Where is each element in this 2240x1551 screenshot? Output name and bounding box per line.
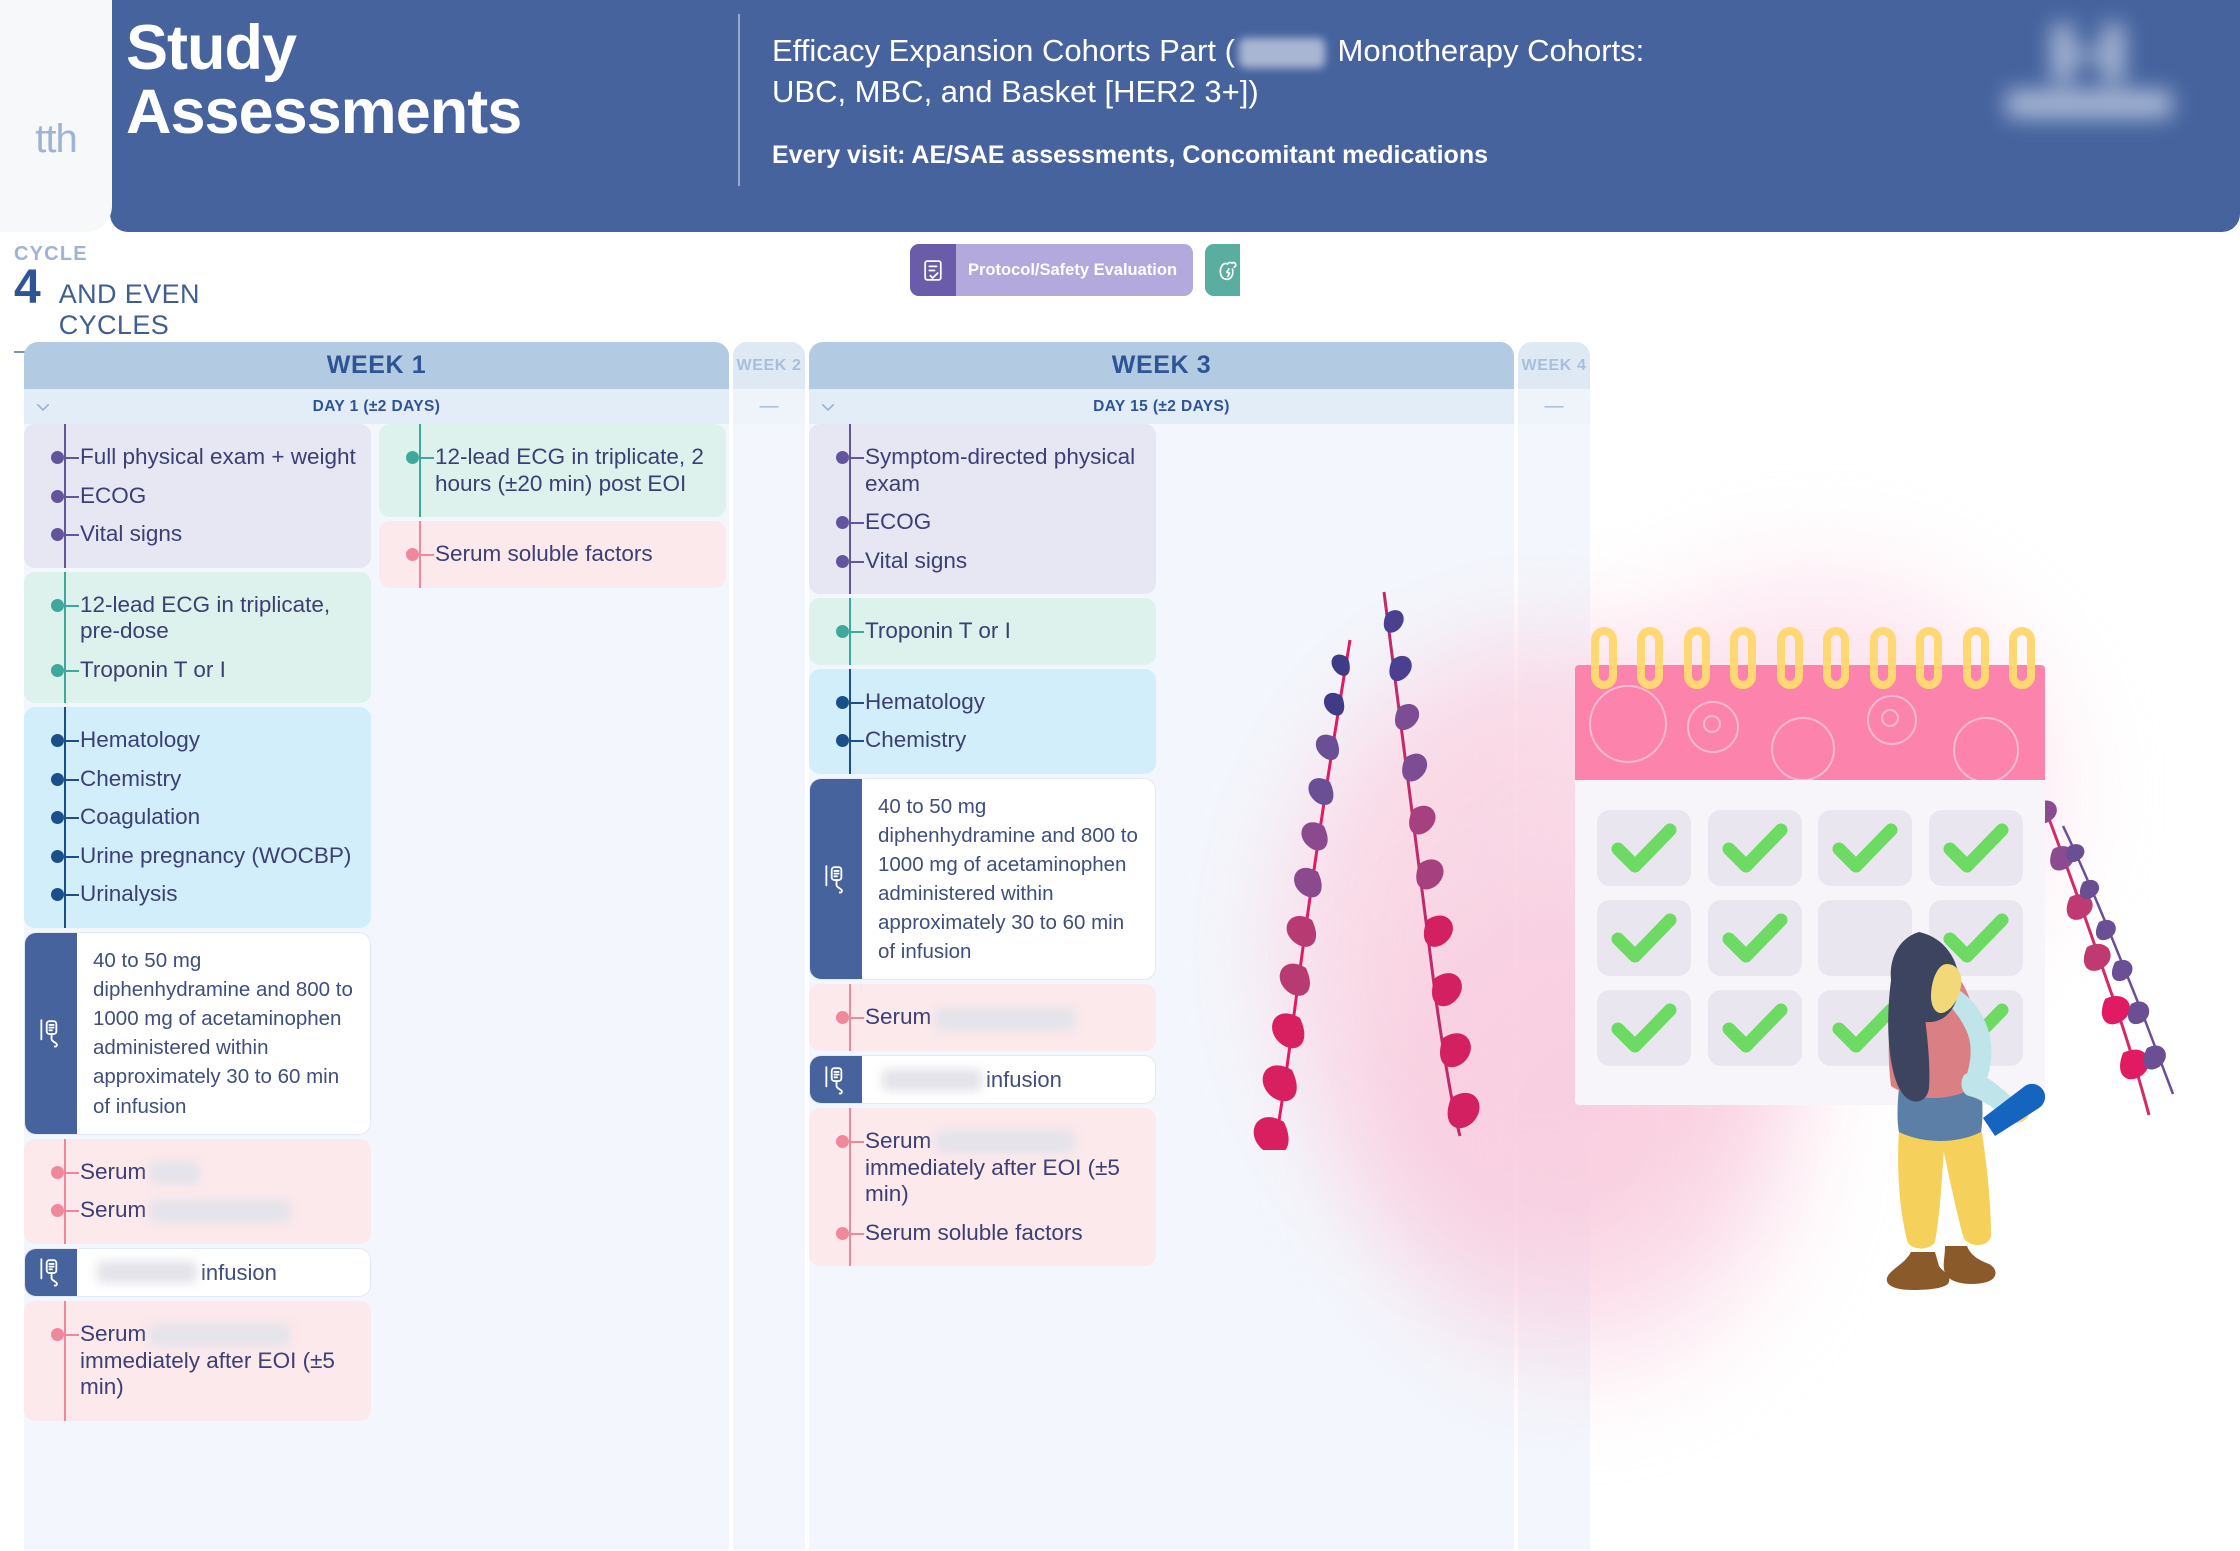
assessment-label: Troponin T or I	[80, 657, 226, 682]
assessment-label: Serum	[80, 1197, 146, 1222]
assessment-card-purple: Full physical exam + weightECOGVital sig…	[24, 424, 371, 568]
day-subheader-week4: —	[1518, 389, 1590, 424]
timeline-dot	[51, 1166, 64, 1179]
cycle-kicker: CYCLE	[14, 243, 304, 266]
redacted-drug-name	[1239, 38, 1325, 68]
assessment-label: 12-lead ECG in triplicate, 2 hours (±20 …	[435, 444, 704, 496]
timeline-dot	[836, 555, 849, 568]
timeline-tick	[66, 817, 79, 819]
assessment-item: Vital signs	[80, 515, 357, 554]
assessment-card-pink: Serum immediately after EOI (±5 min)Seru…	[809, 1108, 1156, 1266]
day-label: DAY 15 (±2 DAYS)	[1093, 398, 1230, 416]
timeline-dot	[51, 599, 64, 612]
timeline-dot	[51, 1328, 64, 1341]
assessment-label: Urinalysis	[80, 881, 178, 906]
week-header-week1[interactable]: WEEK 1	[24, 342, 729, 389]
assessment-item: Troponin T or I	[80, 651, 357, 690]
assessment-label: Hematology	[80, 727, 200, 752]
timeline-tick	[66, 457, 79, 459]
timeline-dot	[51, 490, 64, 503]
assessment-item: Full physical exam + weight	[80, 438, 357, 477]
study-assessments-page: Study Assessments Efficacy Expansion Coh…	[0, 0, 2240, 1551]
iv-drip-icon	[25, 933, 77, 1134]
column-background	[733, 342, 805, 1550]
timeline-tick	[66, 779, 79, 781]
timeline-dot	[51, 888, 64, 901]
premedication-text: 40 to 50 mg diphenhydramine and 800 to 1…	[77, 933, 370, 1134]
day-label: —	[760, 401, 779, 412]
timeline-tick	[851, 522, 864, 524]
timeline-tick	[66, 1172, 79, 1174]
redacted-analyte-name	[150, 1324, 290, 1346]
assessment-item: Chemistry	[80, 760, 357, 799]
assessment-item: Hematology	[80, 721, 357, 760]
calendar-day-cell	[1708, 990, 1802, 1066]
assessment-label: Chemistry	[865, 727, 966, 752]
cohort-subtitle-part1: Efficacy Expansion Cohorts Part (	[772, 33, 1235, 68]
timeline-tick	[851, 740, 864, 742]
timeline-dot	[406, 451, 419, 464]
tth-logo-text: tth	[35, 117, 76, 162]
calendar-illustration	[1250, 560, 2190, 1540]
infusion-text: infusion	[77, 1249, 291, 1296]
timeline-dot	[51, 850, 64, 863]
assessment-label: Vital signs	[865, 548, 967, 573]
assessment-card-teal: 12-lead ECG in triplicate, pre-doseTropo…	[24, 572, 371, 704]
timeline-tick	[66, 856, 79, 858]
page-title-line2: Assessments	[126, 80, 630, 144]
assessment-item: Serum immediately after EOI (±5 min)	[865, 1122, 1142, 1214]
assessment-card-pink: Serum immediately after EOI (±5 min)	[24, 1301, 371, 1421]
cohort-subtitle-part2: Monotherapy Cohorts:	[1329, 33, 1644, 68]
assessment-card-blue: HematologyChemistry	[809, 669, 1156, 774]
timeline-dot	[406, 548, 419, 561]
assessment-label: ECOG	[80, 483, 146, 508]
lavender-sprig-far-right	[2055, 820, 2185, 1100]
check-icon	[1722, 912, 1788, 964]
header-divider	[738, 14, 740, 186]
cohort-subtitle-line2: UBC, MBC, and Basket [HER2 3+])	[772, 74, 1259, 109]
assessment-label: Full physical exam + weight	[80, 444, 356, 469]
sublane-primary: Full physical exam + weightECOGVital sig…	[24, 424, 371, 1425]
company-logo	[2000, 18, 2178, 130]
timeline-tick	[66, 496, 79, 498]
timeline-tick	[851, 1017, 864, 1019]
redacted-drug-name	[882, 1069, 982, 1091]
clipboard-check-icon	[910, 244, 956, 296]
calendar-day-cell	[1597, 810, 1691, 886]
assessment-label-suffix: immediately after EOI (±5 min)	[80, 1348, 335, 1400]
assessment-item: ECOG	[865, 503, 1142, 542]
assessment-label: Hematology	[865, 689, 985, 714]
redacted-analyte-name	[150, 1200, 290, 1222]
assessment-card-teal: 12-lead ECG in triplicate, 2 hours (±20 …	[379, 424, 726, 517]
check-icon	[1611, 1002, 1677, 1054]
timeline-tick	[851, 702, 864, 704]
day-subheader-week2: —	[733, 389, 805, 424]
legend-chip-protocol-safety-evaluation[interactable]: Protocol/Safety Evaluation	[910, 244, 1193, 296]
assessment-label: Serum soluble factors	[865, 1220, 1083, 1245]
calendar-day-cell	[1708, 900, 1802, 976]
assessment-card-pink: Serum soluble factors	[379, 521, 726, 588]
cycle-number: 4	[14, 264, 41, 312]
assessment-item: Serum	[80, 1153, 357, 1192]
timeline-tick	[66, 1210, 79, 1212]
week-header-week4[interactable]: WEEK 4	[1518, 342, 1590, 389]
assessment-item: Serum	[865, 998, 1142, 1037]
assessment-label: Serum	[80, 1321, 146, 1346]
day-label: —	[1545, 401, 1564, 412]
infusion-text: infusion	[862, 1056, 1076, 1103]
premedication-text: 40 to 50 mg diphenhydramine and 800 to 1…	[862, 779, 1155, 980]
assessment-item: Serum soluble factors	[435, 535, 712, 574]
assessment-label: Chemistry	[80, 766, 181, 791]
assessment-label: Vital signs	[80, 521, 182, 546]
timeline-tick	[851, 457, 864, 459]
timeline-dot	[836, 451, 849, 464]
assessment-item: Hematology	[865, 683, 1142, 722]
week-header-week2[interactable]: WEEK 2	[733, 342, 805, 389]
week-label: WEEK 4	[1522, 357, 1587, 375]
timeline-dot	[836, 696, 849, 709]
calendar-day-cell	[1708, 810, 1802, 886]
cycle-description: AND EVEN CYCLES	[59, 279, 304, 341]
page-title: Study Assessments	[110, 0, 630, 145]
assessment-label: Serum	[80, 1159, 146, 1184]
timeline-dot	[836, 1135, 849, 1148]
assessment-label-suffix: immediately after EOI (±5 min)	[865, 1155, 1120, 1207]
schedule-grid: WEEK 1DAY 1 (±2 DAYS)Full physical exam …	[24, 342, 1236, 1550]
every-visit-note: Every visit: AE/SAE assessments, Concomi…	[772, 141, 2022, 170]
timeline-dot	[51, 1204, 64, 1217]
timeline-dot	[51, 451, 64, 464]
redacted-analyte-name	[935, 1131, 1075, 1153]
schedule-column-week2: WEEK 2—	[733, 342, 805, 1550]
column-body: Full physical exam + weightECOGVital sig…	[24, 424, 729, 1425]
calendar-day-cell	[1597, 900, 1691, 976]
week-label: WEEK 2	[737, 357, 802, 375]
timeline-dot	[836, 516, 849, 529]
infusion-card: infusion	[809, 1055, 1156, 1104]
page-title-line1: Study	[126, 16, 630, 80]
assessment-label: Urine pregnancy (WOCBP)	[80, 843, 351, 868]
assessment-card-pink: SerumSerum	[24, 1139, 371, 1244]
timeline-tick	[851, 1141, 864, 1143]
redacted-drug-name	[97, 1261, 197, 1283]
assessment-item: 12-lead ECG in triplicate, 2 hours (±20 …	[435, 438, 712, 503]
assessment-item: Serum soluble factors	[865, 1214, 1142, 1253]
person-illustration	[1815, 860, 2045, 1300]
redacted-analyte-name	[935, 1008, 1075, 1030]
timeline-tick	[66, 740, 79, 742]
check-icon	[1722, 1002, 1788, 1054]
timeline-dot	[836, 1227, 849, 1240]
assessment-label: ECOG	[865, 509, 931, 534]
assessment-card-teal: Troponin T or I	[809, 598, 1156, 665]
sublane-secondary: 12-lead ECG in triplicate, 2 hours (±20 …	[379, 424, 726, 1425]
timeline-dot	[51, 734, 64, 747]
timeline-tick	[421, 457, 434, 459]
legend-chip-label: Protocol/Safety Evaluation	[956, 244, 1193, 296]
page-header: Study Assessments Efficacy Expansion Coh…	[110, 0, 2240, 232]
assessment-item: Chemistry	[865, 721, 1142, 760]
check-icon	[1722, 822, 1788, 874]
infusion-card: infusion	[24, 1248, 371, 1297]
assessment-label: 12-lead ECG in triplicate, pre-dose	[80, 592, 330, 644]
week-label: WEEK 1	[327, 351, 426, 380]
iv-drip-icon	[810, 1056, 862, 1103]
assessment-item: Troponin T or I	[865, 612, 1142, 651]
assessment-item: 12-lead ECG in triplicate, pre-dose	[80, 586, 357, 651]
timeline-dot	[836, 625, 849, 638]
timeline-dot	[51, 528, 64, 541]
timeline-tick	[851, 561, 864, 563]
cycle-indicator: CYCLE 4 AND EVEN CYCLES	[14, 243, 304, 353]
infusion-label: infusion	[201, 1257, 277, 1288]
week-label: WEEK 3	[1112, 351, 1211, 380]
iv-drip-icon	[25, 1249, 77, 1296]
check-icon	[1611, 912, 1677, 964]
assessment-item: Coagulation	[80, 798, 357, 837]
day-subheader-week3: DAY 15 (±2 DAYS)	[809, 389, 1514, 424]
day-subheader-week1: DAY 1 (±2 DAYS)	[24, 389, 729, 424]
assessment-item: Urine pregnancy (WOCBP)	[80, 837, 357, 876]
assessment-label: Coagulation	[80, 804, 200, 829]
schedule-column-week1: WEEK 1DAY 1 (±2 DAYS)Full physical exam …	[24, 342, 729, 1550]
assessment-label: Serum	[865, 1128, 931, 1153]
calendar-rings	[1583, 627, 2043, 697]
assessment-label: Serum soluble factors	[435, 541, 653, 566]
assessment-card-purple: Symptom-directed physical examECOGVital …	[809, 424, 1156, 594]
assessment-label: Troponin T or I	[865, 618, 1011, 643]
assessment-card-pink: Serum	[809, 984, 1156, 1051]
assessment-item: ECOG	[80, 477, 357, 516]
sublane-primary: Symptom-directed physical examECOGVital …	[809, 424, 1156, 1270]
cohort-subtitle: Efficacy Expansion Cohorts Part ( Monoth…	[772, 30, 2022, 112]
assessment-label: Serum	[865, 1004, 931, 1029]
tth-logo-corner: tth	[0, 0, 112, 232]
timeline-dot	[51, 811, 64, 824]
timeline-dot	[51, 773, 64, 786]
timeline-tick	[851, 631, 864, 633]
assessment-label: Symptom-directed physical exam	[865, 444, 1135, 496]
lavender-sprig-inner-left	[1360, 580, 1510, 1140]
assessment-item: Symptom-directed physical exam	[865, 438, 1142, 503]
timeline-tick	[66, 670, 79, 672]
timeline-tick	[66, 605, 79, 607]
week-header-week3[interactable]: WEEK 3	[809, 342, 1514, 389]
timeline-dot	[836, 1011, 849, 1024]
assessment-item: Serum	[80, 1191, 357, 1230]
infusion-label: infusion	[986, 1064, 1062, 1095]
assessment-card-blue: HematologyChemistryCoagulationUrine preg…	[24, 707, 371, 928]
timeline-dot	[836, 734, 849, 747]
chevron-down-icon[interactable]	[34, 398, 52, 416]
header-subtitle-block: Efficacy Expansion Cohorts Part ( Monoth…	[772, 30, 2022, 170]
premedication-card: 40 to 50 mg diphenhydramine and 800 to 1…	[809, 778, 1156, 981]
iv-drip-icon	[810, 779, 862, 980]
assessment-item: Vital signs	[865, 542, 1142, 581]
day-label: DAY 1 (±2 DAYS)	[313, 398, 441, 416]
assessment-item: Urinalysis	[80, 875, 357, 914]
chevron-down-icon[interactable]	[819, 398, 837, 416]
premedication-card: 40 to 50 mg diphenhydramine and 800 to 1…	[24, 932, 371, 1135]
timeline-tick	[66, 894, 79, 896]
redacted-analyte-name	[150, 1162, 200, 1184]
timeline-tick	[421, 554, 434, 556]
timeline-tick	[851, 1233, 864, 1235]
calendar-day-cell	[1597, 990, 1691, 1066]
assessment-item: Serum immediately after EOI (±5 min)	[80, 1315, 357, 1407]
timeline-tick	[66, 1334, 79, 1336]
check-icon	[1611, 822, 1677, 874]
timeline-tick	[66, 534, 79, 536]
timeline-dot	[51, 664, 64, 677]
